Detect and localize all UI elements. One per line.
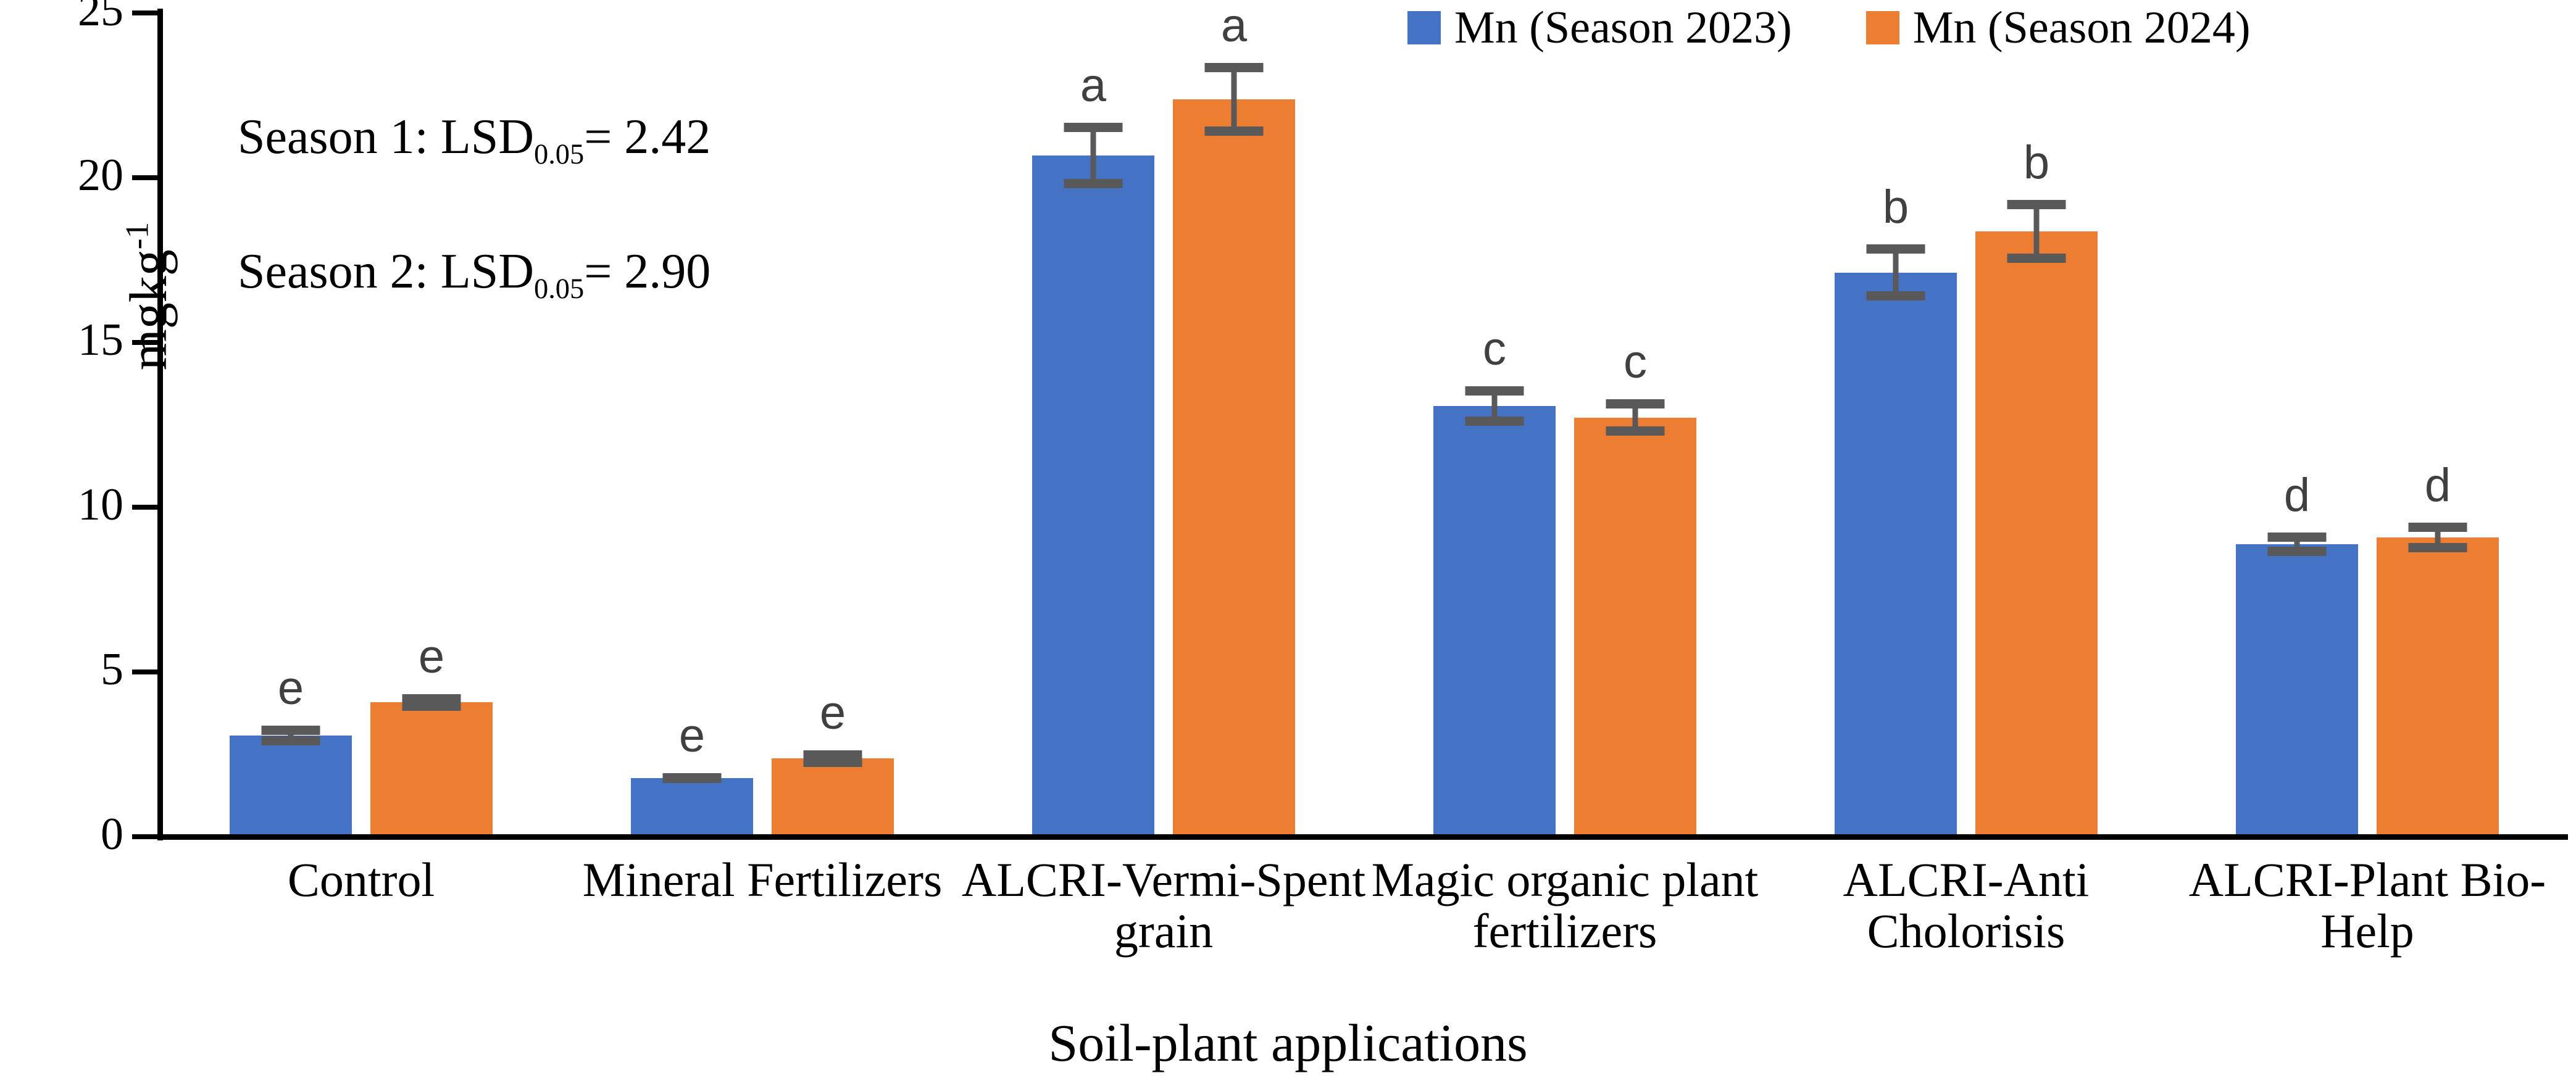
- significance-letter-season-2023-3: a: [1080, 62, 1106, 109]
- error-bar-cap-bottom: [804, 758, 862, 767]
- y-tick-5: [132, 669, 159, 674]
- error-bar-cap-bottom: [1867, 291, 1925, 301]
- error-bar-cap-top: [1465, 386, 1524, 396]
- error-bar-cap-bottom: [1465, 417, 1524, 426]
- error-bar-season-2024-6: [2407, 523, 2469, 552]
- y-tick-label-15: 15: [25, 317, 123, 363]
- bar-season-2023-3[interactable]: [1032, 155, 1154, 834]
- x-tick-label-6: ALCRI-Plant Bio- Help: [2148, 855, 2576, 956]
- bar-season-2024-6[interactable]: [2377, 537, 2499, 834]
- error-bar-cap-bottom: [1064, 179, 1123, 188]
- bar-season-2024-3[interactable]: [1173, 99, 1295, 834]
- error-bar-cap-bottom: [402, 702, 461, 711]
- significance-letter-season-2024-4: c: [1624, 339, 1647, 386]
- error-bar-cap-top: [2409, 523, 2467, 532]
- bar-season-2023-2[interactable]: [631, 778, 753, 834]
- error-bar-stem: [1091, 123, 1096, 189]
- x-tick-label-1: Control: [142, 855, 580, 906]
- y-tick-0: [132, 834, 159, 839]
- error-bar-cap-bottom: [1205, 126, 1264, 136]
- significance-letter-season-2023-4: c: [1483, 326, 1506, 373]
- y-tick-10: [132, 505, 159, 510]
- error-bar-cap-top: [2007, 200, 2066, 209]
- bar-season-2023-4[interactable]: [1433, 406, 1556, 834]
- bar-season-2023-6[interactable]: [2236, 544, 2358, 834]
- y-tick-label-20: 20: [25, 152, 123, 198]
- error-bar-season-2024-2: [802, 750, 864, 767]
- error-bar-cap-bottom: [2007, 254, 2066, 263]
- y-tick-label-0: 0: [25, 811, 123, 857]
- significance-letter-season-2024-2: e: [820, 690, 846, 737]
- error-bar-cap-top: [2268, 533, 2327, 542]
- bar-season-2023-1[interactable]: [230, 736, 352, 834]
- error-bar-season-2023-2: [661, 773, 723, 783]
- error-bar-cap-bottom: [2409, 543, 2467, 552]
- x-axis-line: [157, 834, 2568, 840]
- x-tick-labels: ControlMineral FertilizersALCRI-Vermi-Sp…: [160, 855, 2568, 997]
- significance-letter-season-2023-6: d: [2284, 472, 2310, 519]
- error-bar-season-2024-3: [1203, 63, 1265, 135]
- bar-season-2023-5[interactable]: [1835, 273, 1957, 834]
- error-bar-season-2023-4: [1464, 386, 1525, 426]
- x-tick-label-5: ALCRI-Anti Cholorisis: [1747, 855, 2185, 956]
- x-tick-label-2: Mineral Fertilizers: [543, 855, 982, 906]
- significance-letter-season-2023-2: e: [679, 713, 705, 760]
- bar-season-2024-4[interactable]: [1574, 418, 1696, 835]
- error-bar-stem: [1232, 63, 1237, 135]
- x-axis-title: Soil-plant applications: [0, 1012, 2576, 1074]
- error-bar-cap-top: [1867, 244, 1925, 254]
- error-bar-season-2024-4: [1604, 399, 1666, 436]
- error-bar-cap-top: [1205, 63, 1264, 72]
- y-tick-label-10: 10: [25, 482, 123, 528]
- error-bar-cap-top: [262, 726, 320, 735]
- error-bar-season-2024-1: [401, 694, 462, 711]
- chart-canvas: Mn (Season 2023) Mn (Season 2024) 25 20 …: [0, 0, 2576, 1086]
- error-bar-cap-bottom: [262, 736, 320, 745]
- y-tick-label-25: 25: [25, 0, 123, 33]
- error-bar-cap-bottom: [1606, 426, 1665, 436]
- bar-season-2024-1[interactable]: [370, 702, 493, 834]
- error-bar-season-2023-1: [260, 726, 322, 745]
- significance-letter-season-2024-1: e: [419, 634, 444, 681]
- y-axis-title-exponent: -1: [118, 222, 155, 249]
- significance-letter-season-2023-5: b: [1883, 184, 1909, 231]
- significance-letter-season-2024-6: d: [2425, 462, 2451, 509]
- error-bar-season-2023-3: [1062, 123, 1124, 189]
- significance-letter-season-2024-3: a: [1221, 2, 1247, 49]
- y-tick-label-5: 5: [25, 647, 123, 692]
- error-bar-season-2024-5: [2006, 200, 2067, 262]
- bars-layer: eeeeaaccbbdd: [160, 10, 2568, 834]
- x-tick-label-3: ALCRI-Vermi-Spent grain: [944, 855, 1383, 956]
- significance-letter-season-2023-1: e: [278, 665, 304, 712]
- error-bar-season-2023-5: [1865, 244, 1927, 301]
- error-bar-cap-top: [1606, 399, 1665, 408]
- error-bar-cap-bottom: [663, 774, 722, 783]
- error-bar-season-2023-6: [2266, 533, 2328, 555]
- bar-season-2024-2[interactable]: [772, 758, 894, 834]
- y-tick-25: [132, 10, 159, 15]
- significance-letter-season-2024-5: b: [2024, 139, 2049, 186]
- x-tick-label-4: Magic organic plant fertilizers: [1346, 855, 1784, 956]
- error-bar-cap-bottom: [2268, 547, 2327, 556]
- error-bar-cap-top: [1064, 123, 1123, 132]
- bar-season-2024-5[interactable]: [1975, 231, 2098, 834]
